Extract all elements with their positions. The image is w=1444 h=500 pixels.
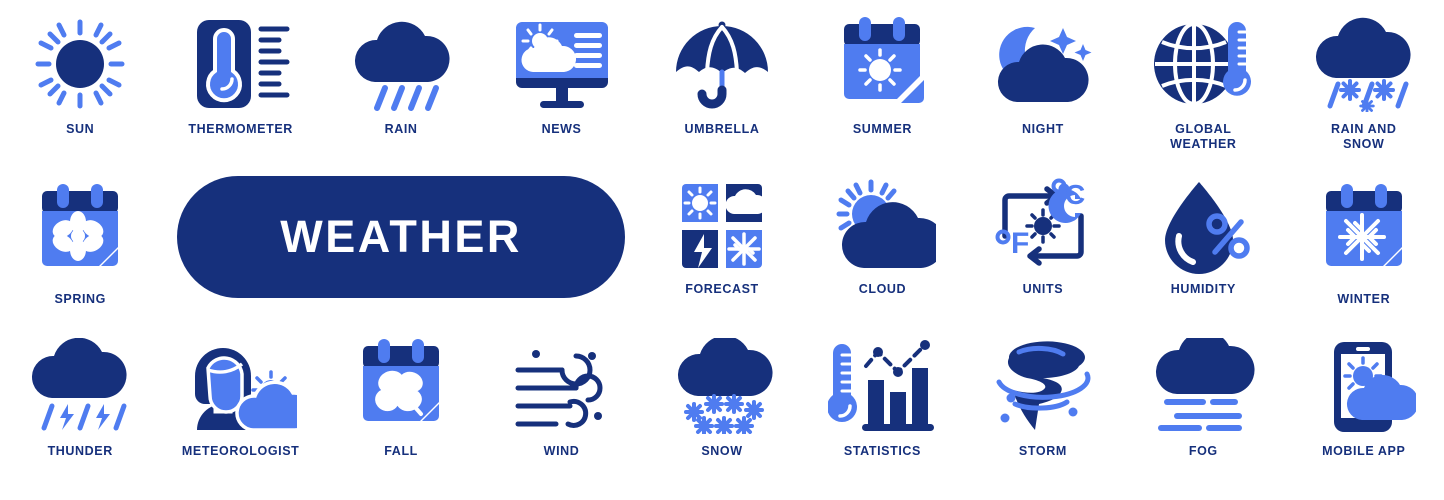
- icon-label: FALL: [384, 444, 418, 459]
- icon-label: FOG: [1189, 444, 1218, 459]
- icon-cell-forecast[interactable]: FORECAST: [642, 176, 802, 310]
- icon-label: UNITS: [1023, 282, 1064, 297]
- icon-label: NEWS: [542, 122, 582, 137]
- weather-banner-text: WEATHER: [280, 211, 522, 263]
- mobile-app-icon: [1312, 336, 1416, 436]
- globe-thermometer-icon: [1151, 14, 1255, 114]
- icon-cell-snow[interactable]: SNOW: [642, 336, 802, 488]
- icon-label: SPRING: [54, 292, 106, 307]
- icon-cell-fall[interactable]: FALL: [321, 336, 481, 488]
- icon-cell-cloud[interactable]: CLOUD: [802, 176, 962, 310]
- rain-cloud-icon: [349, 14, 453, 114]
- icon-label: STORM: [1019, 444, 1067, 459]
- storm-tornado-icon: [991, 336, 1095, 436]
- icon-label: METEOROLOGIST: [182, 444, 300, 459]
- rain-snow-cloud-icon: [1312, 14, 1416, 114]
- meteorologist-icon: [185, 336, 297, 436]
- icon-cell-thermometer[interactable]: THERMOMETER: [160, 14, 320, 164]
- icon-label: HUMIDITY: [1171, 282, 1236, 297]
- icon-row-3: THUNDER: [0, 336, 1444, 488]
- icon-cell-night[interactable]: NIGHT: [963, 14, 1123, 164]
- icon-label: SUMMER: [853, 122, 912, 137]
- snow-cloud-icon: [670, 336, 774, 436]
- icon-label: THERMOMETER: [188, 122, 293, 137]
- icon-label: UMBRELLA: [685, 122, 760, 137]
- icon-label: RAIN AND SNOW: [1331, 122, 1396, 152]
- icon-label: THUNDER: [48, 444, 113, 459]
- sun-icon: [32, 14, 128, 114]
- icon-cell-summer[interactable]: SUMMER: [802, 14, 962, 164]
- umbrella-icon: [672, 14, 772, 114]
- icon-label: SUN: [66, 122, 94, 137]
- icon-cell-thunder[interactable]: THUNDER: [0, 336, 160, 488]
- icon-cell-statistics[interactable]: STATISTICS: [802, 336, 962, 488]
- icon-cell-meteorologist[interactable]: METEOROLOGIST: [160, 336, 320, 488]
- news-monitor-icon: [512, 14, 612, 114]
- icon-label: FORECAST: [685, 282, 759, 297]
- icon-cell-rain[interactable]: RAIN: [321, 14, 481, 164]
- icon-row-1: SUN: [0, 14, 1444, 164]
- icon-label: MOBILE APP: [1322, 444, 1405, 459]
- night-moon-cloud-icon: [991, 14, 1095, 114]
- icon-cell-spring[interactable]: SPRING: [0, 176, 160, 310]
- statistics-icon: [828, 336, 936, 436]
- icon-label: NIGHT: [1022, 122, 1064, 137]
- icon-cell-humidity[interactable]: HUMIDITY: [1123, 176, 1283, 310]
- svg-text:C: C: [1065, 179, 1085, 210]
- forecast-grid-icon: [674, 176, 770, 276]
- thunder-cloud-icon: [28, 336, 132, 436]
- weather-banner-pill[interactable]: WEATHER: [177, 176, 625, 298]
- weather-banner[interactable]: WEATHER: [160, 176, 641, 310]
- icon-row-2: SPRING WEATHER: [0, 176, 1444, 310]
- thermometer-icon: [191, 14, 291, 114]
- icon-label: WINTER: [1337, 292, 1390, 307]
- fog-cloud-icon: [1151, 336, 1255, 436]
- icon-cell-storm[interactable]: STORM: [963, 336, 1123, 488]
- icon-label: SNOW: [701, 444, 742, 459]
- spring-calendar-icon: [30, 176, 130, 286]
- icon-cell-units[interactable]: C F UNITS: [963, 176, 1123, 310]
- svg-text:F: F: [1011, 227, 1029, 260]
- icon-label: GLOBAL WEATHER: [1170, 122, 1236, 152]
- summer-calendar-icon: [832, 14, 932, 114]
- icon-cell-rain-and-snow[interactable]: RAIN AND SNOW: [1284, 14, 1444, 164]
- icon-label: CLOUD: [859, 282, 906, 297]
- icon-label: STATISTICS: [844, 444, 921, 459]
- wind-icon: [510, 336, 614, 436]
- units-conversion-icon: C F: [991, 176, 1095, 276]
- icon-cell-global-weather[interactable]: GLOBAL WEATHER: [1123, 14, 1283, 164]
- icon-label: RAIN: [385, 122, 418, 137]
- fall-calendar-icon: [351, 336, 451, 436]
- sun-cloud-icon: [828, 176, 936, 276]
- icon-cell-mobile-app[interactable]: MOBILE APP: [1284, 336, 1444, 488]
- icon-cell-winter[interactable]: WINTER: [1284, 176, 1444, 310]
- humidity-droplet-icon: [1155, 176, 1251, 276]
- icon-cell-fog[interactable]: FOG: [1123, 336, 1283, 488]
- winter-calendar-icon: [1314, 176, 1414, 286]
- icon-cell-news[interactable]: NEWS: [481, 14, 641, 164]
- icon-cell-umbrella[interactable]: UMBRELLA: [642, 14, 802, 164]
- icon-cell-sun[interactable]: SUN: [0, 14, 160, 164]
- icon-label: WIND: [544, 444, 580, 459]
- icon-cell-wind[interactable]: WIND: [481, 336, 641, 488]
- icon-set-sheet: SUN: [0, 0, 1444, 500]
